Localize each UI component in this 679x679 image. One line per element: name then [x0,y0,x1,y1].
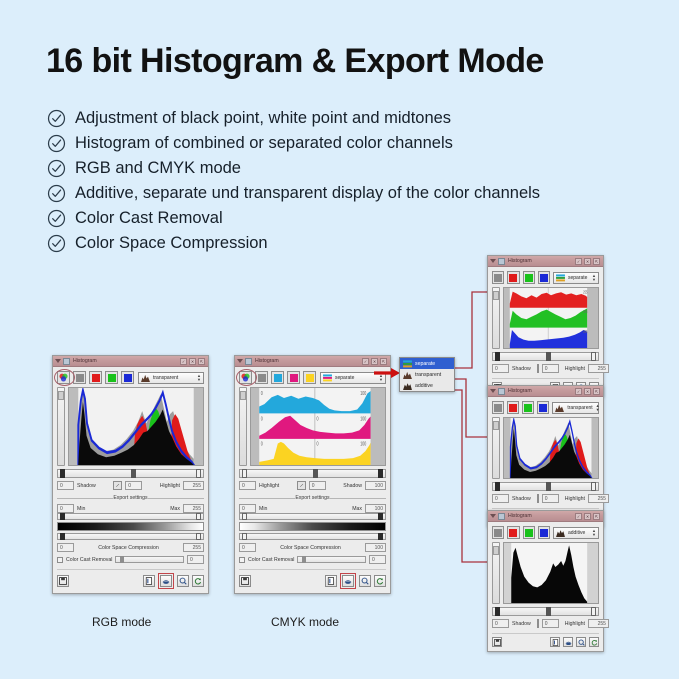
shadow-label: Shadow [512,621,531,627]
midtone-knob[interactable] [131,469,136,478]
display-mode-value: separate [335,375,354,381]
highlight-value-field[interactable]: 255 [588,364,609,373]
document-icon [498,513,505,520]
export-max-low-knob[interactable] [242,533,247,540]
blue-channel-button[interactable] [538,271,550,284]
histogram-mode-button[interactable] [160,575,172,587]
export-settings-group-label: Export settings [239,495,386,501]
collapse-triangle-icon[interactable] [55,359,61,363]
shadow-knob[interactable] [378,469,383,478]
list-item: RGB and CMYK mode [47,156,647,181]
display-mode-select[interactable]: transparent ▲▼ [552,402,599,414]
export-max-slider[interactable] [239,533,386,540]
midtone-eyedropper-button[interactable] [537,619,539,628]
check-circle-icon [47,209,66,228]
midtone-value-field[interactable]: 0 [542,494,559,503]
page-export-button[interactable] [143,575,155,587]
tone-range-slider[interactable] [492,482,599,491]
max-value-field[interactable]: 255 [183,504,204,513]
midtone-knob[interactable] [546,607,551,616]
list-item: Color Cast Removal [47,206,647,231]
shadow-label: Shadow [512,366,531,372]
chevron-updown-icon: ▲▼ [592,529,596,537]
page-export-button[interactable] [550,637,560,647]
min-label: Min [77,506,85,512]
highlight-value-field[interactable]: 255 [588,619,609,628]
composite-channel-button[interactable] [239,371,252,384]
export-min-knob[interactable] [60,513,65,520]
menu-item-label: separate [415,361,435,367]
reset-button[interactable] [374,575,386,587]
green-channel-button[interactable] [523,526,535,539]
svg-text:255: 255 [583,329,587,334]
preview-window-additive[interactable]: Histogram ✓ ✕ ⇱ additive ▲▼ [487,510,604,652]
midtone-value-field[interactable]: 0 [542,364,559,373]
list-item: Color Space Compression [47,231,647,256]
titlebar-confirm-button[interactable]: ✓ [180,358,187,365]
reset-button[interactable] [589,637,599,647]
highlight-label: Highlight [160,483,180,489]
feature-text: Histogram of combined or separated color… [75,134,453,153]
caption-cmyk-mode: CMYK mode [271,615,339,629]
tone-gradient-bar [239,522,386,531]
feature-text: Color Cast Removal [75,209,223,228]
caption-rgb-mode: RGB mode [92,615,151,629]
feature-text: Color Space Compression [75,234,268,253]
window-title: Histogram [73,358,97,364]
display-mode-select[interactable]: additive ▲▼ [553,527,599,539]
midtone-knob[interactable] [313,469,318,478]
svg-text:100: 100 [360,390,366,396]
green-channel-button[interactable] [523,271,535,284]
midtone-eyedropper-button[interactable] [113,481,122,490]
display-mode-select[interactable]: separate ▲▼ [320,372,386,384]
feature-list: Adjustment of black point, white point a… [47,106,647,256]
check-circle-icon [47,134,66,153]
highlight-knob[interactable] [196,469,201,478]
highlight-label: Highlight [565,621,585,627]
rgb-histogram-window[interactable]: Histogram ✓ ✕ ⇱ transparent ▲▼ [52,355,209,594]
channel-toolbar[interactable]: transparent ▲▼ [492,401,599,414]
preview-window-separate[interactable]: Histogram ✓ ✕ ⇱ separate ▲▼ [487,255,604,397]
save-button[interactable] [57,575,69,587]
menu-item-separate[interactable]: separate [400,358,454,369]
check-circle-icon [47,184,66,203]
histogram-mode-button-selected[interactable] [340,573,356,589]
rgb-transparent-plot [503,417,599,479]
export-min-knob[interactable] [242,513,247,520]
highlight-knob[interactable] [591,352,596,361]
zoom-preview-button[interactable] [576,637,586,647]
chevron-updown-icon: ▲▼ [592,274,596,282]
color-cast-removal-label: Color Cast Removal [66,557,112,563]
cyan-channel-button[interactable] [271,371,284,384]
highlight-label: Highlight [259,483,279,489]
gray-channel-button[interactable] [492,401,504,414]
highlight-knob[interactable] [591,482,596,491]
shadow-knob[interactable] [495,607,500,616]
shadow-value-field[interactable]: 100 [365,481,386,490]
color-cast-removal-knob[interactable] [120,556,124,563]
vertical-scale-slider[interactable] [492,542,500,604]
gray-channel-button[interactable] [492,271,504,284]
cmyk-histogram-window[interactable]: Histogram ✓ ✕ ⇱ separate ▲▼ [234,355,391,594]
shadow-value-field[interactable]: 0 [57,481,74,490]
save-button[interactable] [239,575,251,587]
export-min-slider[interactable] [239,513,386,520]
color-cast-removal-checkbox[interactable] [57,557,63,563]
compression-max-field[interactable]: 255 [183,543,204,552]
collapse-triangle-icon[interactable] [490,514,496,518]
rgb-additive-plot [503,542,599,604]
menu-item-label: additive [415,383,433,389]
blue-channel-button[interactable] [538,526,550,539]
export-min-max-knob[interactable] [378,513,383,520]
min-value-field[interactable]: 0 [57,504,74,513]
check-circle-icon [47,234,66,253]
midtone-knob[interactable] [546,482,551,491]
compression-label: Color Space Compression [98,545,159,551]
shadow-label: Shadow [343,483,362,489]
channel-toolbar[interactable]: separate ▲▼ [239,371,386,384]
min-value-field[interactable]: 0 [239,504,256,513]
midtone-value-field[interactable]: 0 [309,481,326,490]
compression-min-field[interactable]: 0 [57,543,74,552]
svg-text:255: 255 [583,290,587,295]
list-item: Histogram of combined or separated color… [47,131,647,156]
compression-label: Color Space Compression [280,545,341,551]
window-titlebar[interactable]: Histogram ✓ ✕ ⇱ [488,256,603,267]
display-mode-value: additive [568,530,585,536]
check-circle-icon [47,109,66,128]
export-max-knob[interactable] [378,533,383,540]
color-cast-removal-label: Color Cast Removal [248,557,294,563]
titlebar-maximize-button[interactable]: ⇱ [380,358,387,365]
midtone-eyedropper-button[interactable] [537,364,539,373]
feature-text: Adjustment of black point, white point a… [75,109,451,128]
color-cast-removal-slider[interactable] [115,556,184,563]
collapse-triangle-icon[interactable] [237,359,243,363]
titlebar-maximize-button[interactable]: ⇱ [593,388,600,395]
gray-channel-button[interactable] [73,371,86,384]
display-mode-value: transparent [567,405,592,411]
vertical-scale-slider[interactable] [492,417,500,479]
gray-channel-button[interactable] [492,526,504,539]
feature-text: RGB and CMYK mode [75,159,241,178]
color-cast-removal-knob[interactable] [302,556,306,563]
titlebar-maximize-button[interactable]: ⇱ [593,513,600,520]
vertical-scale-slider[interactable] [239,387,247,466]
composite-channel-button[interactable] [57,371,70,384]
highlight-knob[interactable] [242,469,247,478]
green-channel-button[interactable] [105,371,118,384]
red-channel-button[interactable] [507,401,519,414]
document-icon [498,388,505,395]
shadow-knob[interactable] [60,469,65,478]
svg-text:100: 100 [360,441,366,447]
yellow-channel-button[interactable] [303,371,316,384]
shadow-knob[interactable] [495,352,500,361]
export-max-slider[interactable] [57,533,204,540]
min-label: Min [259,506,267,512]
window-title: Histogram [508,388,532,394]
feature-text: Additive, separate und transparent displ… [75,184,540,203]
document-icon [245,358,252,365]
display-mode-select[interactable]: transparent ▲▼ [138,372,204,384]
titlebar-maximize-button[interactable]: ⇱ [593,258,600,265]
export-settings-group-label: Export settings [57,495,204,501]
compression-min-field[interactable]: 0 [239,543,256,552]
menu-item-additive[interactable]: additive [400,380,454,391]
max-label: Max [352,506,362,512]
highlight-value-field[interactable]: 255 [588,494,609,503]
max-value-field[interactable]: 100 [365,504,386,513]
tone-gradient-bar [57,522,204,531]
tone-range-slider[interactable] [239,469,386,478]
window-titlebar[interactable]: Histogram ✓ ✕ ⇱ [488,511,603,522]
page-export-button[interactable] [325,575,337,587]
histogram-mode-button[interactable] [342,575,354,587]
histogram-mode-button-selected[interactable] [158,573,174,589]
list-item: Adjustment of black point, white point a… [47,106,647,131]
collapse-triangle-icon[interactable] [490,259,496,263]
menu-item-transparent[interactable]: transparent [400,369,454,380]
histogram-mode-button[interactable] [563,637,573,647]
titlebar-confirm-button[interactable]: ✓ [575,258,582,265]
shadow-knob[interactable] [495,482,500,491]
titlebar-close-button[interactable]: ✕ [584,258,591,265]
highlight-label: Highlight [565,496,585,502]
svg-text:100: 100 [360,416,366,422]
color-cast-removal-value[interactable]: 0 [369,555,386,564]
red-channel-button[interactable] [89,371,102,384]
cmyk-histogram-plot: 0100 00100 00100 [250,387,386,466]
menu-item-label: transparent [415,372,441,378]
document-icon [63,358,70,365]
midtone-knob[interactable] [546,352,551,361]
shadow-label: Shadow [512,496,531,502]
check-circle-icon [47,159,66,178]
tone-range-slider[interactable] [57,469,204,478]
export-max-low-knob[interactable] [60,533,65,540]
color-cast-removal-value[interactable]: 0 [187,555,204,564]
red-channel-button[interactable] [507,271,519,284]
window-title: Histogram [508,513,532,519]
window-title: Histogram [255,358,279,364]
titlebar-confirm-button[interactable]: ✓ [362,358,369,365]
gray-channel-button[interactable] [255,371,268,384]
window-titlebar[interactable]: Histogram ✓ ✕ ⇱ [235,356,390,367]
save-button[interactable] [492,637,502,647]
blue-channel-button[interactable] [537,401,549,414]
window-titlebar[interactable]: Histogram ✓ ✕ ⇱ [488,386,603,397]
titlebar-close-button[interactable]: ✕ [584,388,591,395]
display-mode-value: transparent [153,375,178,381]
shadow-value-field[interactable]: 0 [492,494,509,503]
titlebar-close-button[interactable]: ✕ [584,513,591,520]
export-min-slider[interactable] [57,513,204,520]
document-icon [498,258,505,265]
chevron-updown-icon: ▲▼ [596,404,600,412]
titlebar-maximize-button[interactable]: ⇱ [198,358,205,365]
titlebar-close-button[interactable]: ✕ [371,358,378,365]
vertical-scale-slider[interactable] [492,287,500,349]
export-max-knob[interactable] [196,533,201,540]
page-title: 16 bit Histogram & Export Mode [46,42,544,81]
shadow-label: Shadow [77,483,96,489]
midtone-eyedropper-button[interactable] [297,481,306,490]
shadow-value-field[interactable]: 0 [492,364,509,373]
svg-text:255: 255 [583,310,587,315]
list-item: Additive, separate und transparent displ… [47,181,647,206]
window-titlebar[interactable]: Histogram ✓ ✕ ⇱ [53,356,208,367]
compression-max-field[interactable]: 100 [365,543,386,552]
rgb-separate-plot: 255255255 [503,287,599,349]
midtone-eyedropper-button[interactable] [537,494,539,503]
green-channel-button[interactable] [522,401,534,414]
highlight-value-field[interactable]: 0 [239,481,256,490]
titlebar-confirm-button[interactable]: ✓ [575,388,582,395]
collapse-triangle-icon[interactable] [490,389,496,393]
display-mode-select[interactable]: separate ▲▼ [553,272,599,284]
rgb-histogram-plot [68,387,204,466]
chevron-updown-icon: ▲▼ [379,374,383,382]
chevron-updown-icon: ▲▼ [197,374,201,382]
max-label: Max [170,506,180,512]
channel-toolbar[interactable]: additive ▲▼ [492,526,599,539]
display-mode-menu[interactable]: separate transparent additive [399,357,455,392]
red-channel-button[interactable] [507,526,519,539]
titlebar-confirm-button[interactable]: ✓ [575,513,582,520]
display-mode-value: separate [568,275,587,281]
color-cast-removal-slider[interactable] [297,556,366,563]
shadow-value-field[interactable]: 0 [492,619,509,628]
preview-window-transparent[interactable]: Histogram ✓ ✕ ⇱ transparent ▲▼ [487,385,604,527]
tone-range-slider[interactable] [492,352,599,361]
tone-range-slider[interactable] [492,607,599,616]
export-min-max-knob[interactable] [196,513,201,520]
channel-toolbar[interactable]: transparent ▲▼ [57,371,204,384]
color-cast-removal-checkbox[interactable] [239,557,245,563]
window-title: Histogram [508,258,532,264]
zoom-preview-button[interactable] [359,575,371,587]
magenta-channel-button[interactable] [287,371,300,384]
midtone-value-field[interactable]: 0 [542,619,559,628]
midtone-value-field[interactable]: 0 [125,481,142,490]
blue-channel-button[interactable] [121,371,134,384]
reset-button[interactable] [192,575,204,587]
titlebar-close-button[interactable]: ✕ [189,358,196,365]
vertical-scale-slider[interactable] [57,387,65,466]
highlight-value-field[interactable]: 255 [183,481,204,490]
zoom-preview-button[interactable] [177,575,189,587]
channel-toolbar[interactable]: separate ▲▼ [492,271,599,284]
highlight-knob[interactable] [591,607,596,616]
highlight-label: Highlight [565,366,585,372]
